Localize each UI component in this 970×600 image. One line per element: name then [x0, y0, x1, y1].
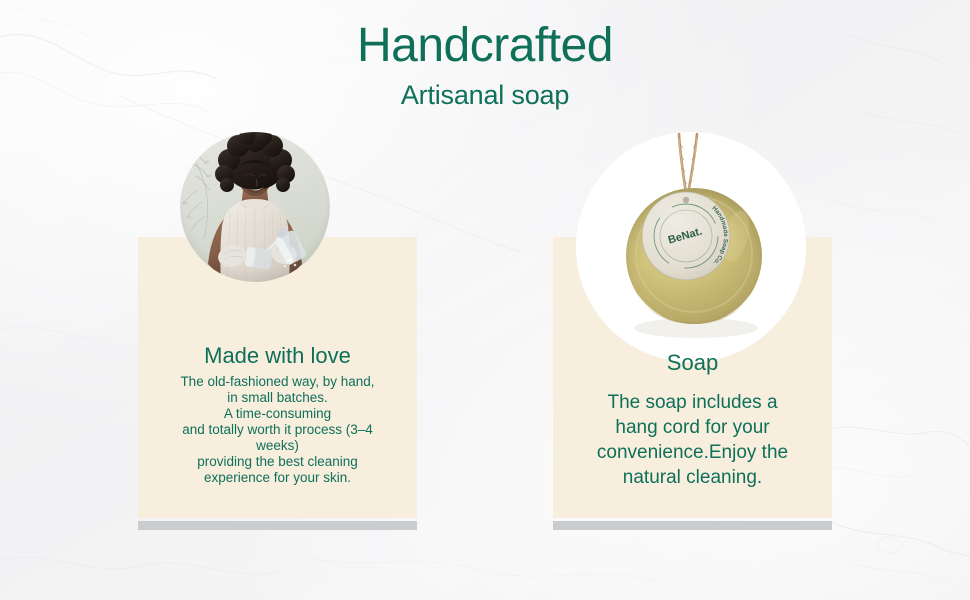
feature-card-soap: Handmade Soap Co. BeNat. Soap The soap i… [553, 132, 832, 529]
card-shadow-bar [138, 521, 417, 530]
page-title: Handcrafted [0, 22, 970, 70]
card-body-line: providing the best cleaning [138, 454, 417, 470]
card-heading: Made with love [138, 343, 417, 369]
card-body: The old-fashioned way, by hand, in small… [138, 374, 417, 486]
card-body-line: The soap includes a [553, 390, 832, 415]
woman-making-soap-photo [180, 132, 330, 282]
card-shadow-bar [553, 521, 832, 530]
feature-card-made-with-love: Made with love The old-fashioned way, by… [138, 132, 417, 529]
card-body-line: weeks) [138, 438, 417, 454]
card-body-line: A time-consuming [138, 406, 417, 422]
card-body-line: The old-fashioned way, by hand, [138, 374, 417, 390]
page-header: Handcrafted Artisanal soap [0, 22, 970, 109]
card-body-line: hang cord for your [553, 415, 832, 440]
card-body-line: experience for your skin. [138, 470, 417, 486]
round-soap-with-hang-cord-photo: Handmade Soap Co. BeNat. [576, 132, 806, 362]
page-subtitle: Artisanal soap [0, 82, 970, 109]
card-body: The soap includes a hang cord for your c… [553, 390, 832, 490]
card-body-line: in small batches. [138, 390, 417, 406]
card-body-line: and totally worth it process (3–4 [138, 422, 417, 438]
card-body-line: natural cleaning. [553, 465, 832, 490]
card-heading: Soap [553, 350, 832, 376]
card-body-line: convenience.Enjoy the [553, 440, 832, 465]
